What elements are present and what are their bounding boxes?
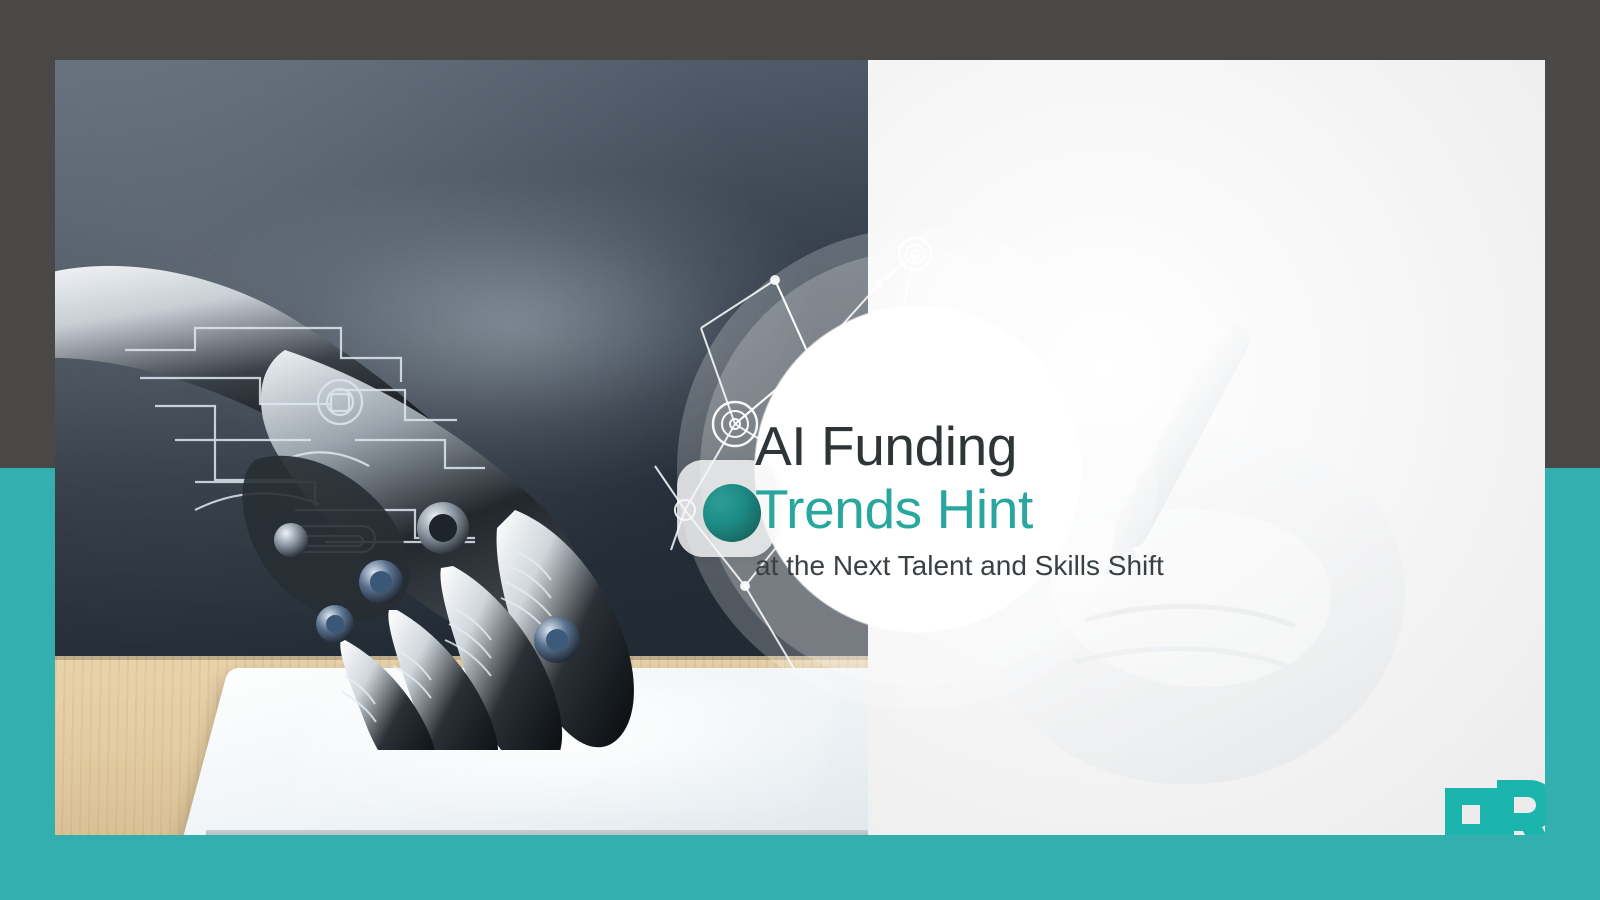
hero-image: AI Funding Trends Hint at the Next Talen… [55,60,1545,835]
headline-line-2: Trends Hint [755,477,1455,541]
teal-dot-icon [703,484,761,542]
tablet-bottom-rim [204,830,968,835]
headline-line-1: AI Funding [755,415,1455,477]
headline-block: AI Funding Trends Hint at the Next Talen… [755,415,1455,583]
hr-monogram-logo[interactable]: HR [1443,778,1545,835]
headline-subtitle: at the Next Talent and Skills Shift [755,549,1455,583]
banner-canvas: AI Funding Trends Hint at the Next Talen… [0,0,1600,900]
